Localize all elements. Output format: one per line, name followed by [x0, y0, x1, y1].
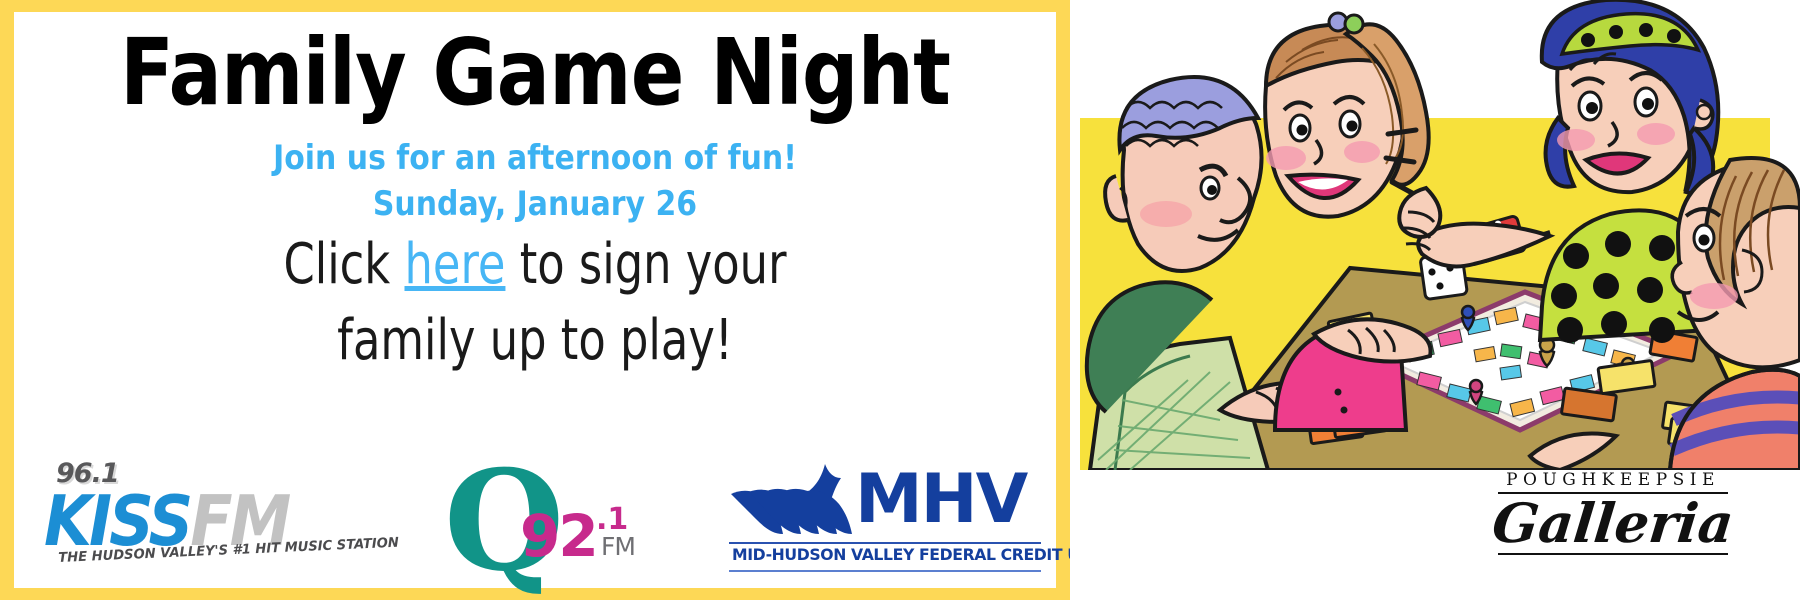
- mhv-rule-top: [729, 542, 1041, 544]
- sponsor-logo-row: 96.1 KISSFM THE HUDSON VALLEY'S #1 HIT M…: [14, 456, 1056, 574]
- promo-banner: Family Game Night Join us for an afterno…: [0, 0, 1800, 600]
- mhv-tagline: MID-HUDSON VALLEY FEDERAL CREDIT UNION: [732, 545, 1123, 564]
- mhv-rule-bottom: [729, 570, 1041, 572]
- galleria-wordmark: Galleria: [1465, 495, 1761, 552]
- family-game-illustration: [1070, 0, 1800, 470]
- galleria-city: POUGHKEEPSIE: [1468, 470, 1758, 490]
- cta-text: Click here to sign your family up to pla…: [118, 227, 952, 378]
- logo-kiss-fm[interactable]: 96.1 KISSFM THE HUDSON VALLEY'S #1 HIT M…: [38, 458, 358, 570]
- mhv-initials: MHV: [855, 466, 1026, 534]
- logo-mhv[interactable]: MHV MID-HUDSON VALLEY FEDERAL CREDIT UNI…: [729, 460, 1049, 572]
- illustration-panel: POUGHKEEPSIE Galleria: [1070, 0, 1800, 600]
- q92-band: FM: [601, 532, 635, 561]
- cta-before-link: Click: [283, 232, 404, 297]
- subtitle-date: Sunday, January 26: [77, 184, 994, 224]
- logo-q92[interactable]: Q 92 .1 FM: [444, 456, 654, 574]
- signup-link[interactable]: here: [404, 232, 505, 297]
- logo-poughkeepsie-galleria[interactable]: POUGHKEEPSIE Galleria: [1468, 470, 1758, 590]
- mhv-waves-icon: [729, 464, 861, 538]
- subtitle-invite: Join us for an afternoon of fun!: [77, 138, 994, 178]
- page-title: Family Game Night: [87, 26, 983, 120]
- cta-line-2: family up to play!: [337, 308, 733, 373]
- left-text-panel: Family Game Night Join us for an afterno…: [0, 0, 1070, 600]
- left-panel-inner: Family Game Night Join us for an afterno…: [14, 12, 1056, 588]
- q92-number: 92: [520, 502, 597, 570]
- cta-after-link: to sign your: [505, 232, 786, 297]
